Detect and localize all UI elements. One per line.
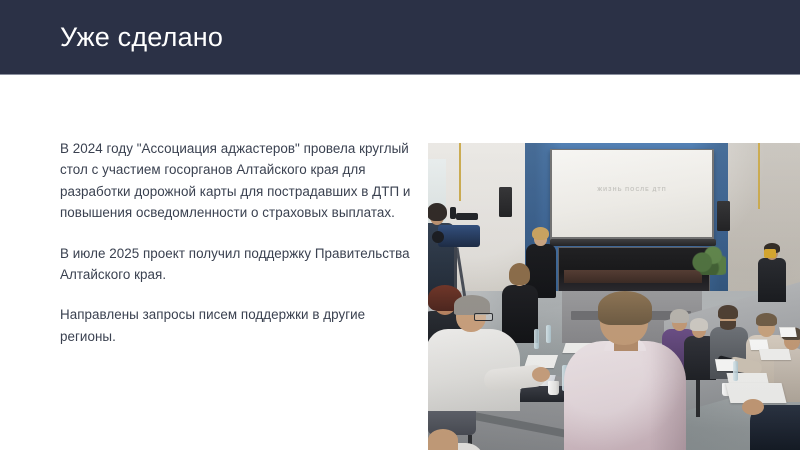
- photo-eyeglasses: [474, 313, 493, 321]
- photo-water-bottle: [534, 329, 539, 349]
- photo-wall-speaker-left: [499, 187, 512, 217]
- photo-screen-text: ЖИЗНЬ ПОСЛЕ ДТП: [552, 187, 712, 193]
- photo-person-hair: [454, 295, 490, 315]
- slide: Уже сделано В 2024 году "Ассоциация аджа…: [0, 0, 800, 450]
- photo-hanging-cord-right: [758, 143, 760, 209]
- photo-person-hair: [756, 313, 777, 326]
- photo-person-hand: [532, 367, 550, 382]
- photo-table-leg: [696, 379, 700, 417]
- photo-person-hair: [598, 291, 652, 325]
- photo-projection-screen: [552, 150, 712, 237]
- photo-cup: [548, 381, 559, 395]
- paragraph-1: В 2024 году "Ассоциация аджастеров" пров…: [60, 138, 416, 224]
- header-divider: [0, 74, 800, 75]
- photo-water-bottle: [733, 361, 738, 381]
- photo-person-hand: [742, 399, 764, 415]
- photo-hanging-cord-left: [459, 143, 461, 201]
- photo-person-hair: [670, 309, 689, 323]
- photo-person-head: [428, 429, 458, 450]
- photo-foreground-man-shading: [564, 341, 686, 450]
- body-text-column: В 2024 году "Ассоциация аджастеров" пров…: [60, 138, 416, 347]
- paragraph-2: В июле 2025 проект получил поддержку Пра…: [60, 243, 416, 286]
- page-title: Уже сделано: [60, 20, 223, 54]
- photo-person-hair: [509, 263, 530, 285]
- photo-camera-icon: [764, 249, 776, 258]
- photo-paper: [759, 349, 791, 360]
- photo-plant: [692, 243, 726, 275]
- photo-wall-speaker-right: [717, 201, 730, 231]
- photo-water-bottle: [546, 325, 551, 343]
- photo-folder: [518, 386, 568, 402]
- paragraph-3: Направлены запросы писем поддержки в дру…: [60, 304, 416, 347]
- photo-console-wood-panel: [564, 270, 702, 283]
- photo-video-camera: [438, 225, 480, 247]
- photo-person-beard: [720, 321, 736, 330]
- photo-person-hair: [718, 305, 738, 319]
- photo-person-hair: [690, 318, 708, 331]
- photo-standing-photographer: [758, 258, 786, 302]
- photo-camera-lens: [432, 231, 444, 243]
- photo-camera-handle: [456, 213, 478, 220]
- photo-person-hair: [428, 203, 447, 221]
- photo-camera-microphone: [450, 207, 456, 219]
- photo-person-hair: [532, 227, 549, 240]
- roundtable-photo: ЖИЗНЬ ПОСЛЕ ДТП: [428, 143, 800, 450]
- photo-name-card: [779, 327, 797, 337]
